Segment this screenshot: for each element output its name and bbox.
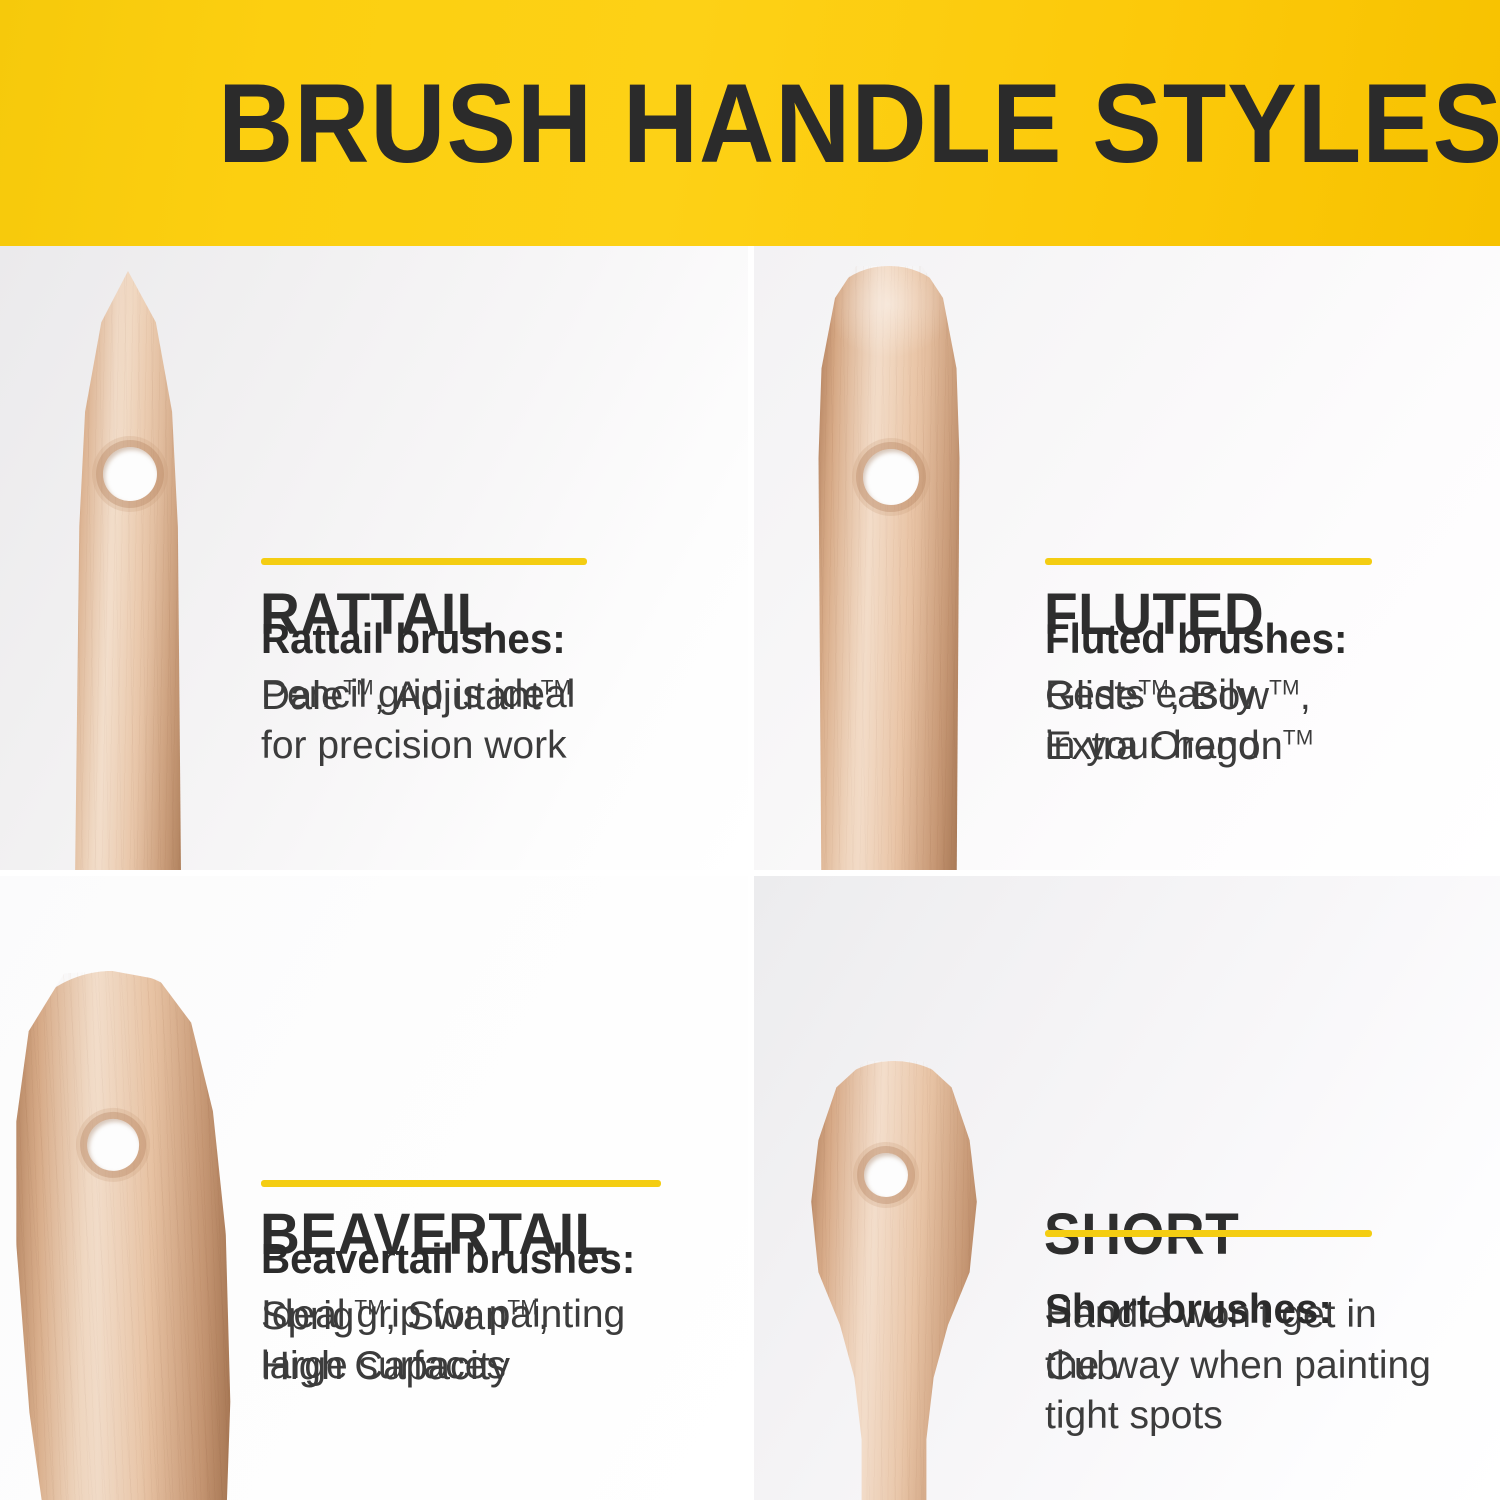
wood-grain-texture — [804, 1061, 984, 1500]
beavertail-divider-rule — [261, 1180, 661, 1187]
fluted-divider-rule — [1045, 558, 1372, 565]
short-divider-rule — [1045, 1230, 1372, 1237]
rattail-brushes-label: Rattail brushes: — [261, 616, 566, 662]
trademark-symbol: TM — [507, 1297, 538, 1320]
panel-short: SHORT Handle won’t get in the way when p… — [754, 876, 1500, 1500]
beavertail-brushes-label: Beavertail brushes: — [261, 1236, 635, 1282]
short-brushes-list: Cub — [1045, 1341, 1445, 1391]
wood-grain-texture — [814, 266, 964, 870]
rattail-brushes-list: DaleTM, AdjutantTM — [261, 671, 691, 721]
fluted-brushes-label: Fluted brushes: — [1045, 616, 1347, 662]
rattail-handle-image — [58, 271, 198, 870]
trademark-symbol: TM — [1283, 727, 1314, 750]
fluted-handle-image — [806, 266, 976, 870]
handle-shading — [804, 1061, 984, 1500]
page-title: BRUSH HANDLE STYLES — [218, 70, 1250, 178]
rattail-brushes-line-1: DaleTM, AdjutantTM — [261, 671, 691, 721]
rattail-hang-hole — [103, 447, 157, 501]
rattail-description-line-2: for precision work — [261, 721, 681, 772]
beavertail-brushes-line-2: High Capacity — [261, 1341, 711, 1391]
wood-grain-texture — [0, 965, 243, 1500]
fluted-brushes-line-1: GlideTM, BowTM, — [1045, 671, 1465, 721]
trademark-symbol: TM — [1138, 677, 1169, 700]
rattail-divider-rule — [261, 558, 587, 565]
infographic-poster: BRUSH HANDLE STYLES RATTAIL Pencil grip … — [0, 0, 1500, 1500]
beavertail-brushes-list: SprigTM, SwanTM, High Capacity — [261, 1291, 711, 1392]
short-description-line-3: tight spots — [1045, 1391, 1475, 1442]
beavertail-handle-image — [0, 965, 251, 1500]
header-banner: BRUSH HANDLE STYLES — [0, 0, 1500, 246]
handle-shading — [814, 266, 964, 870]
fluted-hang-hole — [863, 449, 919, 505]
trademark-symbol: TM — [354, 1297, 385, 1320]
trademark-symbol: TM — [343, 677, 374, 700]
fluted-brushes-line-2: Extra OregonTM — [1045, 721, 1465, 771]
short-hang-hole — [864, 1153, 908, 1197]
fluted-brushes-list: GlideTM, BowTM, Extra OregonTM — [1045, 671, 1465, 772]
panel-fluted: FLUTED Rests easily in your hand Fluted … — [754, 246, 1500, 870]
short-brushes-label: Short brushes: — [1045, 1286, 1332, 1332]
panel-grid: RATTAIL Pencil grip is ideal for precisi… — [0, 246, 1500, 1500]
panel-beavertail: BEAVERTAIL Ideal grip for painting large… — [0, 876, 748, 1500]
handle-shading — [70, 271, 186, 870]
panel-rattail: RATTAIL Pencil grip is ideal for precisi… — [0, 246, 748, 870]
handle-shading — [0, 965, 243, 1500]
wood-grain-texture — [70, 271, 186, 870]
trademark-symbol: TM — [541, 677, 572, 700]
handle-top-highlight — [814, 266, 964, 870]
short-handle-image — [794, 1061, 994, 1500]
short-brushes-line-1: Cub — [1045, 1341, 1445, 1391]
trademark-symbol: TM — [1269, 677, 1300, 700]
beavertail-brushes-line-1: SprigTM, SwanTM, — [261, 1291, 711, 1341]
